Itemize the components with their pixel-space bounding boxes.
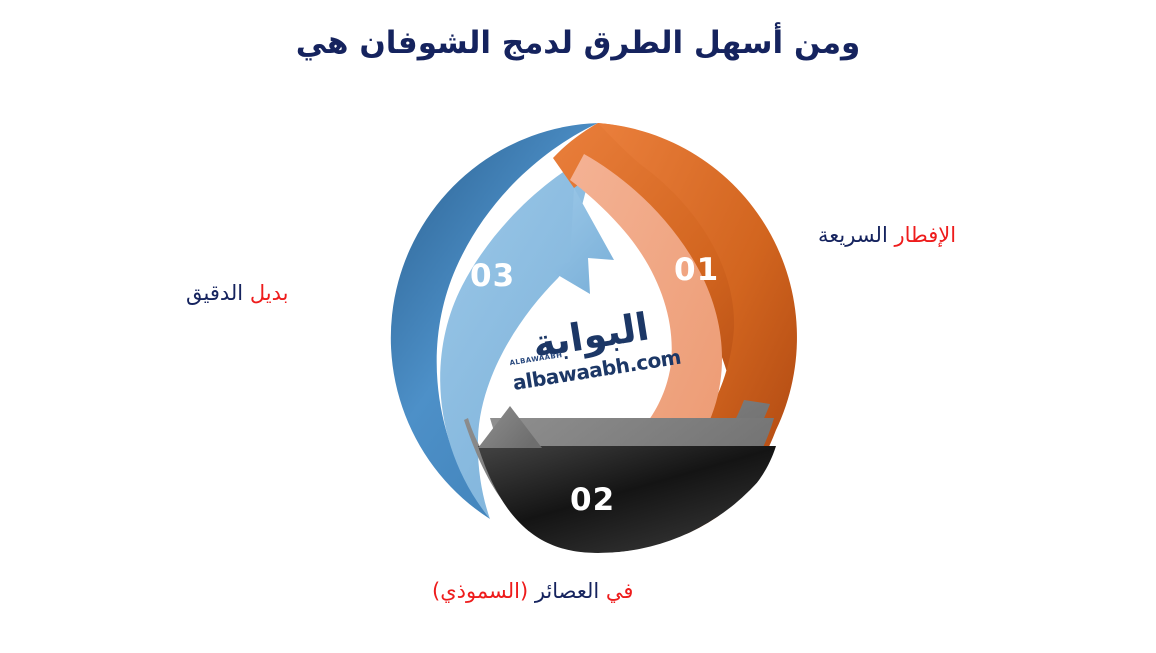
segment-03-number: 03: [470, 258, 515, 294]
label-step-02-part1: في: [606, 579, 634, 603]
infographic-canvas: ومن أسهل الطرق لدمج الشوفان هي: [0, 0, 1156, 653]
label-step-01-part2: السريعة: [818, 223, 888, 247]
label-step-01: الإفطار السريعة: [818, 222, 956, 249]
page-title: ومن أسهل الطرق لدمج الشوفان هي: [0, 24, 1156, 63]
segment-02-number: 02: [570, 482, 615, 518]
label-step-01-part1: الإفطار: [894, 223, 956, 247]
segment-01-number: 01: [674, 252, 719, 288]
label-step-02-part3: (السموذي): [432, 579, 528, 603]
cycle-diagram: 03 01: [378, 118, 818, 558]
label-step-03-part1: بديل: [250, 281, 289, 305]
label-step-02-part2: العصائر: [535, 579, 599, 603]
label-step-03-part2: الدقيق: [186, 281, 243, 305]
label-step-02: في العصائر (السموذي): [432, 578, 633, 605]
label-step-03: بديل الدقيق: [186, 280, 288, 307]
